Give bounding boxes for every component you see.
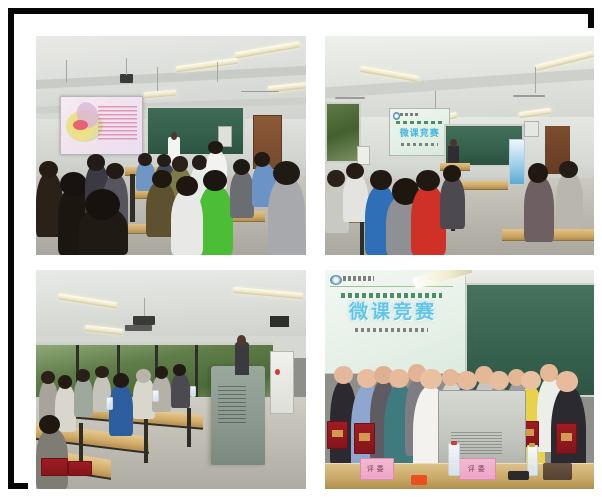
certificate-folder <box>327 421 348 449</box>
photo-collage: Large lecture hall full of students faci… <box>0 0 602 497</box>
attendee-person <box>109 384 133 437</box>
audience-head <box>85 189 120 220</box>
attendee-head <box>370 170 392 191</box>
light-pendant <box>157 67 158 91</box>
attendee-head <box>346 163 364 179</box>
light-pendant <box>535 67 536 93</box>
ceiling-fan <box>513 95 545 97</box>
photo-bottom-right[interactable]: 微课竞赛 <box>325 270 595 489</box>
audience-person <box>268 176 306 255</box>
attendee-person <box>524 176 554 242</box>
audience-head <box>172 156 188 171</box>
university-name-text <box>343 276 374 281</box>
projector-mount <box>144 298 145 316</box>
speaker-person <box>235 342 248 375</box>
projection-screen: 微课竞赛 <box>325 270 466 374</box>
group-photo-scene: 微课竞赛 <box>325 270 595 489</box>
ceiling-fan <box>335 97 365 99</box>
group-person-head <box>334 366 353 384</box>
group-person-head <box>420 369 442 390</box>
audience-head <box>192 155 207 169</box>
wall-cabinet <box>524 121 539 136</box>
projector <box>133 316 155 325</box>
projection-screen <box>60 96 143 155</box>
collage-frame: Large lecture hall full of students faci… <box>8 8 594 489</box>
photo-top-left[interactable]: Large lecture hall full of students faci… <box>36 36 306 255</box>
certificate-seal <box>359 433 370 441</box>
bottle-cap <box>451 441 457 445</box>
slide-divider <box>330 286 453 287</box>
desk-leg <box>187 408 191 447</box>
teacher-seminar-scene: 微课竞赛 <box>325 36 595 255</box>
rollup-banner <box>509 139 524 185</box>
attendee-head <box>173 364 185 376</box>
desk-leg <box>360 220 365 255</box>
slide-subtitle-line <box>396 121 442 124</box>
group-person-head <box>457 371 477 391</box>
podium-vents <box>218 386 246 423</box>
orange-object <box>411 475 427 485</box>
red-folder <box>68 461 92 476</box>
red-folder <box>41 458 67 475</box>
side-window <box>325 102 361 163</box>
speaker-head <box>237 335 247 346</box>
attendee-head <box>528 163 548 183</box>
air-conditioner <box>270 351 294 414</box>
projector-mount <box>126 58 127 76</box>
ac-indicator-icon <box>275 369 280 376</box>
presenter-head <box>450 139 457 147</box>
attendee-head <box>76 369 89 382</box>
judge-name-card: 评委 <box>459 458 496 480</box>
water-bottle <box>106 397 113 410</box>
audience-head <box>60 172 87 196</box>
audience-head <box>273 161 300 185</box>
audience-head <box>157 154 170 167</box>
group-person-head <box>389 369 409 389</box>
audience-person <box>171 189 203 255</box>
slide-title: 微课竞赛 <box>339 302 448 318</box>
light-pendant <box>217 62 218 82</box>
speaker-box <box>125 325 152 332</box>
attendee-head <box>41 371 54 384</box>
university-name-text <box>400 113 418 116</box>
projector <box>120 74 133 83</box>
projection-screen: 微课竞赛 <box>389 108 450 156</box>
attendee-head <box>443 165 461 181</box>
attendee-head <box>113 373 129 388</box>
certificate-seal <box>561 433 572 441</box>
slide-footer-line <box>355 328 428 332</box>
attendee-person <box>74 377 93 416</box>
audience-head <box>176 176 198 196</box>
slide-title: 微课竞赛 <box>395 128 445 138</box>
attendee-head <box>559 161 578 179</box>
teacher-head <box>171 132 177 139</box>
audience-head <box>106 163 124 179</box>
audience-head <box>152 170 172 189</box>
light-pendant <box>66 60 67 82</box>
bottle-cap <box>529 443 535 447</box>
audience-head <box>87 154 105 170</box>
university-logo-icon <box>330 275 342 285</box>
audience-head <box>39 161 58 179</box>
group-person-head <box>556 371 578 392</box>
certificate-seal <box>332 430 343 437</box>
judge-name-card: 评委 <box>360 458 394 480</box>
lecture-hall-scene: Large lecture hall full of students faci… <box>36 36 306 255</box>
audience-person <box>230 170 254 218</box>
slide-text-block <box>98 106 137 140</box>
photo-bottom-left[interactable]: Side view of a tiered classroom: rows of… <box>36 270 306 489</box>
podium <box>211 366 265 465</box>
attendee-person <box>343 174 367 222</box>
desk-leg <box>130 174 134 222</box>
ceiling <box>36 270 306 342</box>
wall-speaker <box>270 316 289 327</box>
water-bottle <box>152 390 159 402</box>
photo-top-right[interactable]: 微课竞赛 <box>325 36 595 255</box>
desk-leg <box>144 415 148 463</box>
tiered-classroom-scene: Side view of a tiered classroom: rows of… <box>36 270 306 489</box>
slide-footer-line <box>401 143 438 145</box>
certificate-folder <box>354 423 375 453</box>
wall-unit <box>357 146 370 166</box>
group-person-head <box>540 364 558 382</box>
attendee-person <box>171 373 190 408</box>
attendee-person <box>556 172 583 229</box>
attendee-person <box>440 176 464 229</box>
water-bottle <box>448 443 459 476</box>
attendee-head <box>327 170 345 188</box>
dark-object <box>508 471 530 480</box>
photo-grid: Large lecture hall full of students faci… <box>28 28 602 497</box>
water-bottle <box>190 386 196 397</box>
attendee-head <box>136 369 151 383</box>
certificate-folder <box>556 423 577 453</box>
bag-object <box>543 463 573 481</box>
